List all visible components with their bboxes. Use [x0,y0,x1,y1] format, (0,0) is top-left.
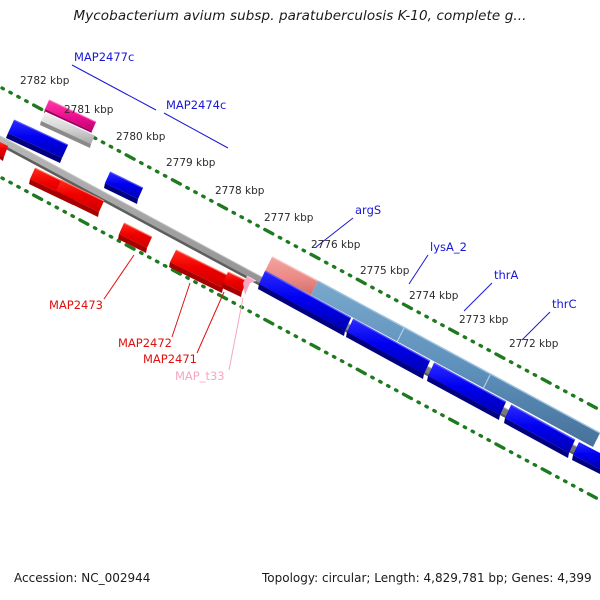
sequence-stats-text: Topology: circular; Length: 4,829,781 bp… [262,571,592,585]
gene-label-map-t33[interactable]: MAP_t33 [175,369,225,383]
ruler-tick: 2777 kbp [264,212,313,224]
ruler-tick: 2776 kbp [311,239,360,251]
ruler-tick: 2775 kbp [360,265,409,277]
gene-label-thrc[interactable]: thrC [552,297,577,311]
ruler-tick: 2773 kbp [459,314,508,326]
ruler-tick: 2779 kbp [166,157,215,169]
gene-label-map2471[interactable]: MAP2471 [143,352,197,366]
gene-label-map2473[interactable]: MAP2473 [49,298,103,312]
ruler-tick: 2778 kbp [215,185,264,197]
ruler-tick: 2781 kbp [64,104,113,116]
ruler-tick: 2772 kbp [509,338,558,350]
genome-sequence-viewer[interactable]: Mycobacterium avium subsp. paratuberculo… [0,0,600,600]
gene-label-map2477c[interactable]: MAP2477c [74,50,134,64]
ruler-tick: 2774 kbp [409,290,458,302]
gene-label-lysa-2[interactable]: lysA_2 [430,240,467,254]
gene-label-map2474c[interactable]: MAP2474c [166,98,226,112]
accession-text: Accession: NC_002944 [14,571,150,585]
ruler-tick: 2780 kbp [116,131,165,143]
gene-label-thra[interactable]: thrA [494,268,518,282]
gene-label-args[interactable]: argS [355,203,381,217]
gene-label-map2472[interactable]: MAP2472 [118,336,172,350]
ruler-tick: 2782 kbp [20,75,69,87]
